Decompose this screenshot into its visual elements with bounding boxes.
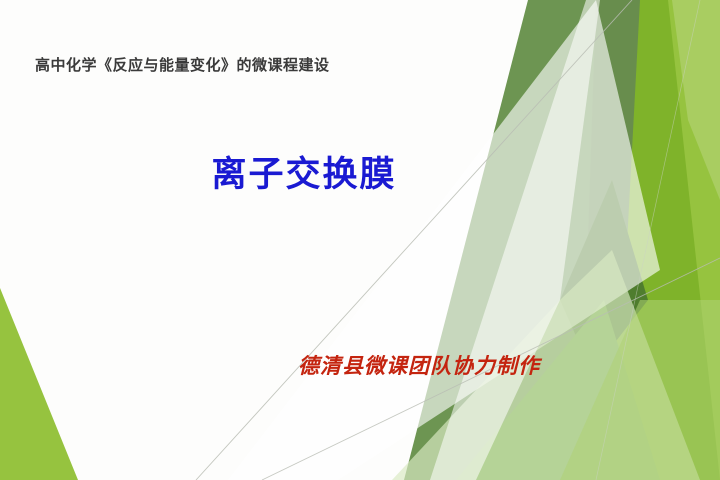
slide-credit-text: 德清县微课团队协力制作	[298, 350, 540, 380]
shape-bright-green-wedge	[560, 0, 720, 480]
slide-header-text: 高中化学《反应与能量变化》的微课程建设	[35, 54, 330, 75]
presentation-slide: 高中化学《反应与能量变化》的微课程建设 离子交换膜 德清县微课团队协力制作	[0, 0, 720, 480]
shape-dark-olive-wedge	[404, 0, 612, 480]
shape-right-edge-highlight	[672, 0, 720, 200]
shape-left-bottom-green-sliver	[0, 288, 78, 480]
shape-white-sliver-overlay	[430, 0, 600, 480]
hairline-right-vertical	[596, 0, 700, 480]
shape-deep-green-triangle	[560, 180, 648, 372]
shape-pale-green-bottom	[560, 300, 720, 480]
shape-mid-green-lower-wedge	[456, 300, 660, 480]
slide-main-title: 离子交换膜	[0, 146, 608, 197]
shape-light-green-right-band	[560, 0, 720, 480]
